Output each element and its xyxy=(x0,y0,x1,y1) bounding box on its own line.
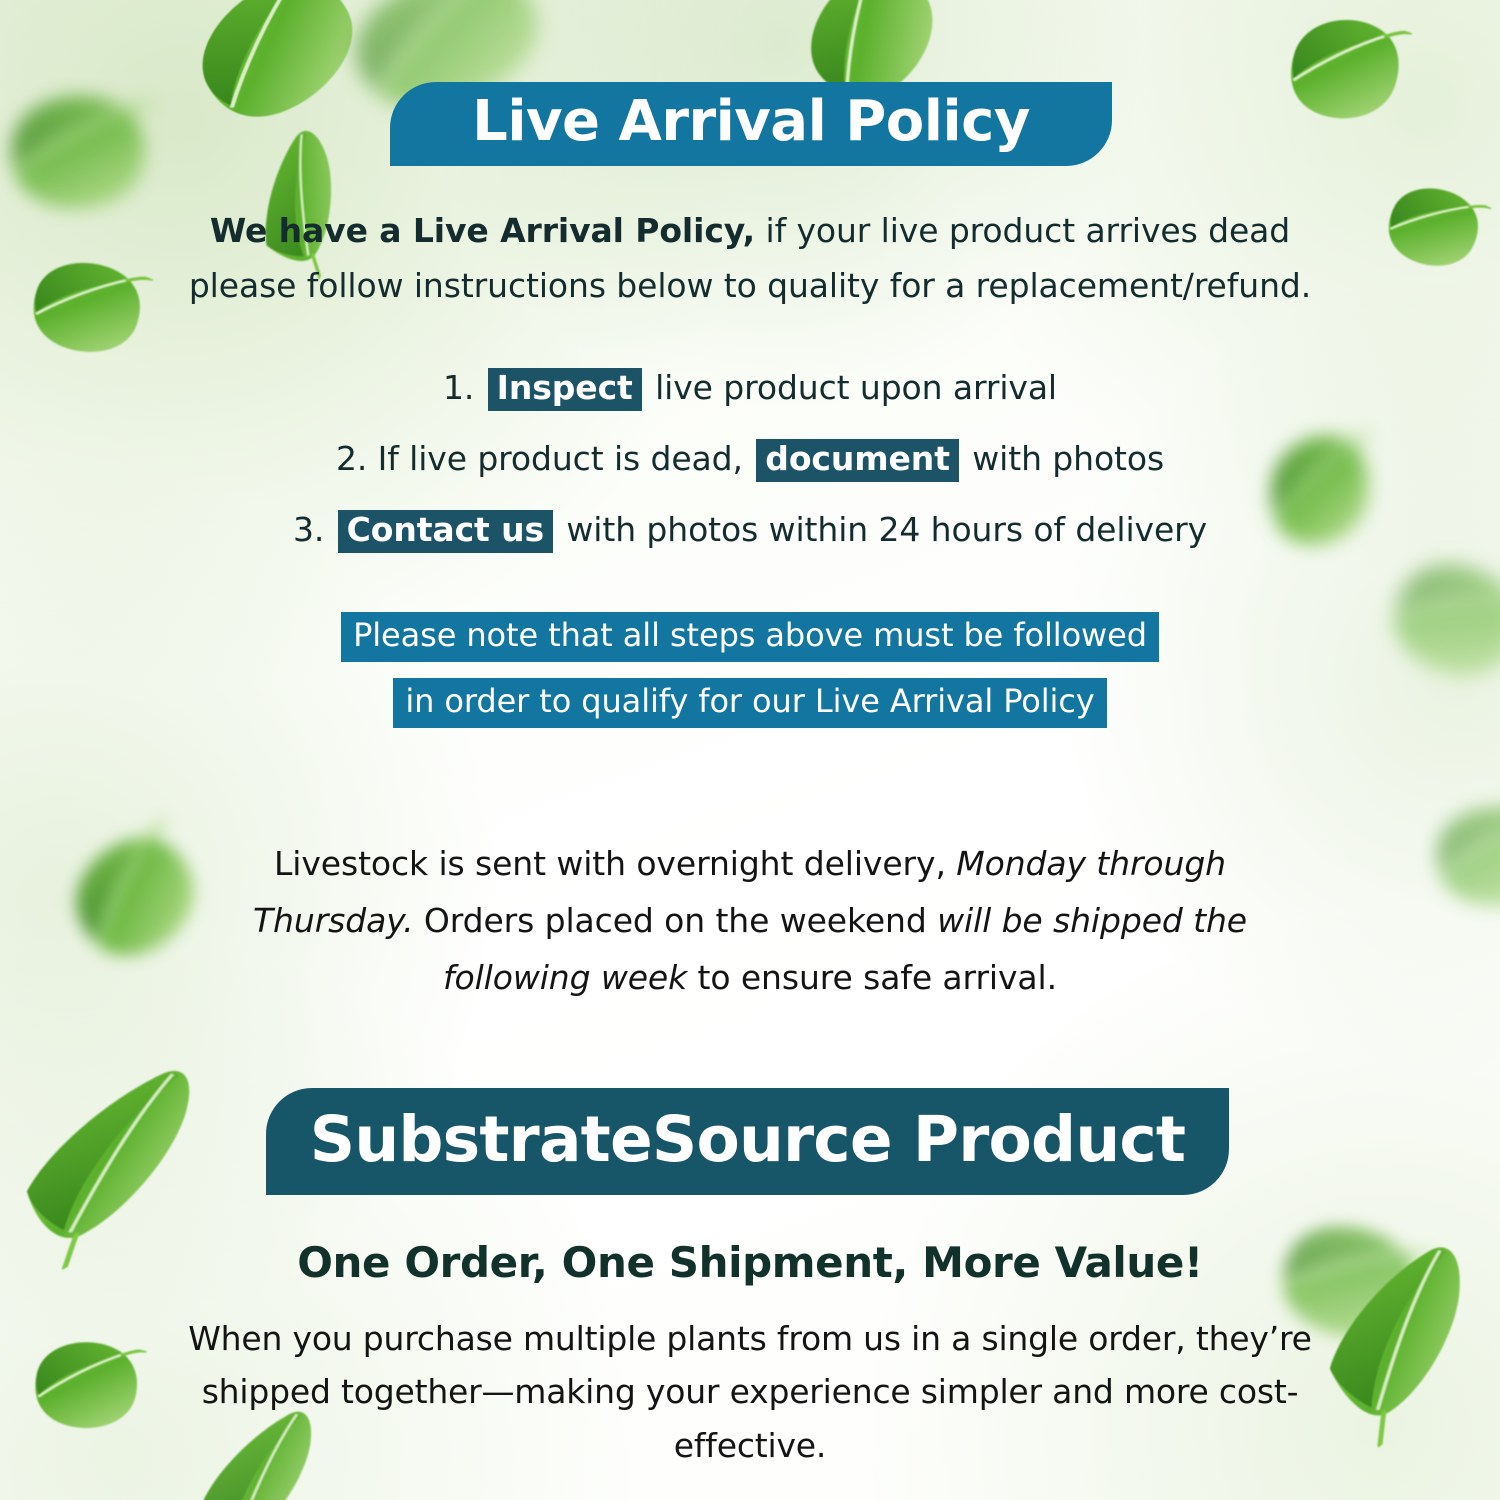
intro-lead: We have a Live Arrival Policy, xyxy=(210,211,755,250)
page-content: Live Arrival Policy We have a Live Arriv… xyxy=(0,0,1500,1500)
step-before: If live product is dead, xyxy=(378,439,743,478)
livestock-text-3: to ensure safe arrival. xyxy=(687,958,1057,997)
note-line-1: Please note that all steps above must be… xyxy=(341,612,1159,662)
value-heading: One Order, One Shipment, More Value! xyxy=(0,1238,1500,1287)
step-highlight-document: document xyxy=(756,439,959,482)
note-row-2: in order to qualify for our Live Arrival… xyxy=(0,678,1500,728)
step-number: 3. xyxy=(293,510,324,549)
livestock-paragraph: Livestock is sent with overnight deliver… xyxy=(0,836,1500,1006)
note-line-2: in order to qualify for our Live Arrival… xyxy=(393,678,1106,728)
step-highlight-contact-us: Contact us xyxy=(338,510,553,553)
livestock-text-2: Orders placed on the weekend xyxy=(413,901,937,940)
step-number: 2. xyxy=(336,439,367,478)
step-after: with photos xyxy=(972,439,1164,478)
note-row-1: Please note that all steps above must be… xyxy=(0,612,1500,662)
step-highlight-inspect: Inspect xyxy=(488,368,642,411)
step-number: 1. xyxy=(443,368,474,407)
intro-paragraph: We have a Live Arrival Policy, if your l… xyxy=(0,203,1500,314)
step-after: with photos within 24 hours of delivery xyxy=(566,510,1207,549)
list-item: 1. Inspect live product upon arrival xyxy=(0,368,1500,411)
page-title: Live Arrival Policy xyxy=(472,94,1030,150)
step-after: live product upon arrival xyxy=(655,368,1057,407)
product-banner-title: SubstrateSource Product xyxy=(310,1108,1185,1171)
livestock-text-1: Livestock is sent with overnight deliver… xyxy=(274,844,956,883)
steps-list: 1. Inspect live product upon arrival 2. … xyxy=(0,368,1500,581)
live-arrival-policy-banner: Live Arrival Policy xyxy=(390,82,1112,166)
list-item: 2. If live product is dead, document wit… xyxy=(0,439,1500,482)
value-body-paragraph: When you purchase multiple plants from u… xyxy=(0,1312,1500,1472)
substratesource-product-banner: SubstrateSource Product xyxy=(266,1088,1229,1195)
list-item: 3. Contact us with photos within 24 hour… xyxy=(0,510,1500,553)
policy-note-block: Please note that all steps above must be… xyxy=(0,612,1500,744)
